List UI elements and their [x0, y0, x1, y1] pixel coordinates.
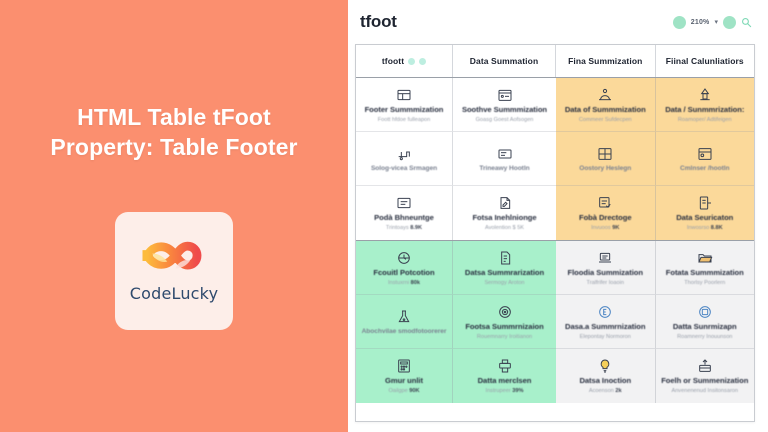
cell-subtitle: Inwosrso 8.8K [687, 225, 723, 231]
cell-subtitle: Tralfrifer Ioaoin [587, 280, 624, 286]
section-right-columns: Data of SummmizationCommeer SufdecpenDat… [556, 78, 754, 240]
table-cell[interactable]: Abochvilae smodfotoorerer [356, 295, 453, 349]
data-table: tfoott Data Summation Fina Summization F… [355, 44, 755, 422]
table-layout-icon [396, 86, 412, 103]
table-row: Gmur unlitOailgpe 90KDatta merclsenInstr… [356, 349, 556, 403]
cell-subtitle: Thorlsy Poorlern [684, 280, 725, 286]
table-row: Podà BhneuntgeTrintoays 8.9KFotsa Inehln… [356, 186, 556, 240]
cell-subtitle: Oailgpe 90K [388, 388, 419, 394]
cell-title: Footsa Summrnizaion [465, 323, 543, 332]
table-row: Fobà DrectogeInvuoos 9KData SeuricatonIn… [556, 186, 754, 240]
monument-icon [697, 86, 713, 103]
zoom-level-value[interactable]: 210% [691, 19, 710, 26]
cell-subtitle: Acoenson 2k [589, 388, 622, 394]
cell-title: Gmur unlit [385, 377, 423, 386]
column-header-4[interactable]: Fiinal Calunliatiors [656, 45, 755, 77]
table-row: Footer SummmizationFoott hfdoe fulleapon… [356, 78, 556, 132]
table-cell[interactable]: Foelh or SummenizationAnvenenenud Insito… [656, 349, 755, 403]
cell-subtitle: Roamoper/ Adtifeigen [678, 117, 732, 123]
table-row: Floodia SummizationTralfrifer IoaoinFota… [556, 241, 754, 295]
table-cell[interactable]: Data SeuricatonInwosrso 8.8K [656, 186, 755, 240]
table-section-upper: Footer SummmizationFoott hfdoe fulleapon… [356, 78, 754, 240]
cell-title: Floodia Summization [568, 269, 643, 278]
table-cell[interactable]: Solog-vicea Srmagen [356, 132, 453, 186]
table-header-row: tfoott Data Summation Fina Summization F… [356, 45, 754, 78]
printer-doc-icon [497, 357, 513, 374]
catalog-icon [697, 145, 713, 162]
cell-subtitle: Commeer Sufdecpen [579, 117, 632, 123]
table-section-lower: Fcouitl PotcotionInstuxrni 80kDatsa Summ… [356, 241, 754, 403]
cell-title: Footer Summmization [365, 106, 444, 115]
sewing-machine-icon [396, 145, 412, 162]
cell-subtitle: Trintoays 8.9K [386, 225, 422, 231]
table-cell[interactable]: Datsa InoctionAcoenson 2k [556, 349, 656, 403]
folder-open-icon [697, 249, 713, 266]
brand-name: CodeLucky [130, 284, 219, 303]
cell-title: Fotata Summmization [666, 269, 744, 278]
target-badge-icon [497, 303, 513, 320]
table-cell[interactable]: Oostory Heslegn [556, 132, 656, 186]
cell-subtitle: Avolention $ 5K [485, 225, 524, 231]
column-header-2[interactable]: Data Summation [453, 45, 556, 77]
app-header: tfoot 210% ▾ [348, 0, 768, 44]
invoice-icon [697, 194, 713, 211]
status-chip [673, 16, 686, 29]
app-panel: tfoot 210% ▾ tfoott Data Summation Fina [348, 0, 768, 432]
cell-subtitle: Instuxrni 80k [388, 280, 420, 286]
section-left-columns: Fcouitl PotcotionInstuxrni 80kDatsa Summ… [356, 241, 556, 403]
cell-subtitle: Rouemnarry Iroitianon [477, 334, 532, 340]
table-row: Datsa InoctionAcoenson 2kFoelh or Summen… [556, 349, 754, 403]
table-body: Footer SummmizationFoott hfdoe fulleapon… [356, 78, 754, 403]
calendar-note-icon [497, 86, 513, 103]
table-cell[interactable]: Soothve SummmizationGoasg Goest Aofsogen [453, 78, 556, 132]
cell-title: Data of Summmization [565, 106, 646, 115]
table-cell[interactable]: Datta SunrmizapnRoamnerry Inouunson [656, 295, 755, 349]
section-left-columns: Footer SummmizationFoott hfdoe fulleapon… [356, 78, 556, 240]
form-grid-icon [597, 145, 613, 162]
doc-pages-icon [497, 249, 513, 266]
table-cell[interactable]: Gmur unlitOailgpe 90K [356, 349, 453, 403]
people-share-icon [597, 86, 613, 103]
table-cell[interactable]: Cmlnser /hootln [656, 132, 755, 186]
table-cell[interactable]: Footsa SummrnizaionRouemnarry Iroitianon [453, 295, 556, 349]
brand-logo-card: CodeLucky [115, 212, 233, 330]
table-cell[interactable]: Footer SummmizationFoott hfdoe fulleapon [356, 78, 453, 132]
laboratory-icon [396, 308, 412, 325]
page-title: HTML Table tFoot Property: Table Footer [24, 102, 324, 163]
table-row: Solog-vicea SrmagenTrineawy Hootln [356, 132, 556, 186]
list-box-icon [396, 194, 412, 211]
cell-title: Data Seuricaton [676, 214, 733, 223]
cell-subtitle: Foott hfdoe fulleapon [378, 117, 431, 123]
column-header-1[interactable]: tfoott [356, 45, 453, 77]
table-cell[interactable]: Floodia SummizationTralfrifer Ioaoin [556, 241, 656, 295]
document-card-icon [497, 145, 513, 162]
table-cell[interactable]: Fobà DrectogeInvuoos 9K [556, 186, 656, 240]
app-title: tfoot [360, 12, 397, 32]
cell-subtitle: Anvenenenud Insitonsaron [671, 388, 738, 394]
header-controls: 210% ▾ [673, 16, 752, 29]
section-right-columns: Floodia SummizationTralfrifer IoaoinFota… [556, 241, 754, 403]
table-cell[interactable]: Datsa SummrarizationSermogy Aroton [453, 241, 556, 295]
cell-title: Solog-vicea Srmagen [371, 165, 437, 173]
table-row: Abochvilae smodfotoorererFootsa Summrniz… [356, 295, 556, 349]
cell-title: Data / Sunmmrization: [665, 106, 744, 115]
doc-check-icon [597, 194, 613, 211]
cell-subtitle: Goasg Goest Aofsogen [476, 117, 534, 123]
circle-disk-icon [697, 303, 713, 320]
cell-title: Oostory Heslegn [579, 165, 631, 173]
calculator-grid-icon [396, 357, 412, 374]
cell-title: Cmlnser /hootln [680, 165, 729, 173]
table-row: Fcouitl PotcotionInstuxrni 80kDatsa Summ… [356, 241, 556, 295]
table-cell[interactable]: Datta merclsenInstrupeer 39% [453, 349, 556, 403]
infinity-leaf-logo-icon [133, 240, 215, 282]
cell-subtitle: Instrupeer 39% [486, 388, 524, 394]
cell-title: Podà Bhneuntge [374, 214, 434, 223]
cell-subtitle: Sermogy Aroton [484, 280, 524, 286]
cell-title: Datta Sunrmizapn [673, 323, 737, 332]
cell-title: Dasa.a Summrnization [565, 323, 645, 332]
cell-title: Fcouitl Potcotion [373, 269, 434, 278]
table-cell[interactable]: Fotata SummmizationThorlsy Poorlern [656, 241, 755, 295]
cell-title: Trineawy Hootln [479, 165, 529, 173]
table-cell[interactable]: Fcouitl PotcotionInstuxrni 80k [356, 241, 453, 295]
table-row: Data of SummmizationCommeer SufdecpenDat… [556, 78, 754, 132]
laptop-doc-icon [597, 249, 613, 266]
lightbulb-icon [597, 357, 613, 374]
table-cell[interactable]: Fotsa InehlniongeAvolention $ 5K [453, 186, 556, 240]
cell-title: Abochvilae smodfotoorerer [362, 328, 447, 336]
search-icon[interactable] [741, 17, 752, 28]
table-row: Dasa.a SummrnizationElepontay NormoronDa… [556, 295, 754, 349]
table-cell[interactable]: Dasa.a SummrnizationElepontay Normoron [556, 295, 656, 349]
cell-subtitle: Elepontay Normoron [580, 334, 631, 340]
cell-title: Datsa Summrarization [465, 269, 544, 278]
cell-title: Soothve Summmization [462, 106, 547, 115]
cell-title: Foelh or Summenization [661, 377, 748, 386]
column-header-1-label: tfoott [382, 56, 404, 66]
avatar[interactable] [723, 16, 736, 29]
table-cell[interactable]: Trineawy Hootln [453, 132, 556, 186]
table-cell[interactable]: Podà BhneuntgeTrintoays 8.9K [356, 186, 453, 240]
circle-e-icon [597, 303, 613, 320]
header-dot-icon [419, 58, 426, 65]
upload-box-icon [697, 357, 713, 374]
hero-panel: HTML Table tFoot Property: Table Footer … [0, 0, 348, 432]
cell-subtitle: Invuoos 9K [591, 225, 619, 231]
table-cell[interactable]: Data of SummmizationCommeer Sufdecpen [556, 78, 656, 132]
edit-doc-icon [497, 194, 513, 211]
cell-title: Fotsa Inehlnionge [472, 214, 536, 223]
cell-title: Fobà Drectoge [579, 214, 632, 223]
cell-subtitle: Roamnerry Inouunson [677, 334, 732, 340]
cell-title: Datsa Inoction [579, 377, 631, 386]
header-dot-icon [408, 58, 415, 65]
cell-title: Datta merclsen [478, 377, 532, 386]
column-header-3[interactable]: Fina Summization [556, 45, 656, 77]
clock-globe-icon [396, 249, 412, 266]
chevron-down-icon[interactable]: ▾ [714, 18, 718, 26]
table-row: Oostory HeslegnCmlnser /hootln [556, 132, 754, 186]
table-cell[interactable]: Data / Sunmmrization:Roamoper/ Adtifeige… [656, 78, 755, 132]
